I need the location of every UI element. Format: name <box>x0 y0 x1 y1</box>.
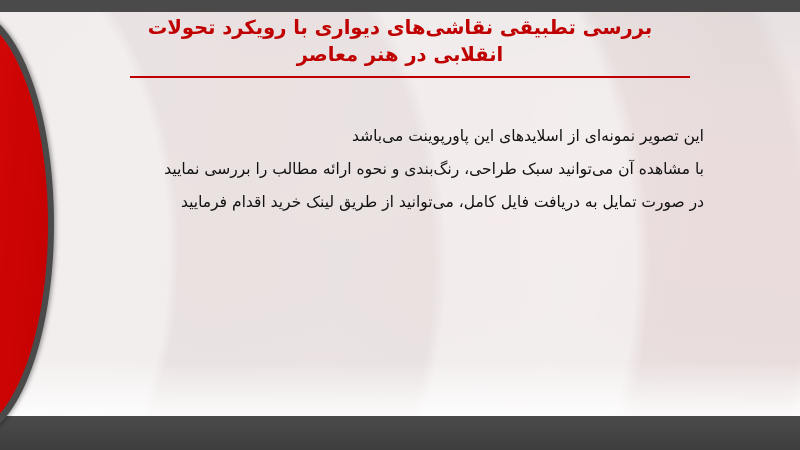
presentation-slide: بررسی تطبیقی نقاشی‌های دیواری با رویکرد … <box>0 0 800 450</box>
slide-body-text: این تصویر نمونه‌ای از اسلایدهای این پاور… <box>104 120 704 219</box>
background-curve-texture <box>0 12 800 432</box>
red-ellipse-fill <box>0 15 48 433</box>
slide-title-line-2: انقلابی در هنر معاصر <box>90 41 710 68</box>
slide-body-line-1: این تصویر نمونه‌ای از اسلایدهای این پاور… <box>104 120 704 153</box>
slide-title: بررسی تطبیقی نقاشی‌های دیواری با رویکرد … <box>90 14 710 68</box>
slide-body-line-3: در صورت تمایل به دریافت فایل کامل، می‌تو… <box>104 186 704 219</box>
dark-bottom-band <box>0 416 800 450</box>
slide-title-line-1: بررسی تطبیقی نقاشی‌های دیواری با رویکرد … <box>90 14 710 41</box>
title-underline-rule <box>130 76 690 78</box>
red-ellipse-decoration <box>0 9 54 439</box>
slide-content-panel <box>0 12 800 432</box>
slide-body-line-2: با مشاهده آن می‌توانید سبک طراحی، رنگ‌بن… <box>104 153 704 186</box>
